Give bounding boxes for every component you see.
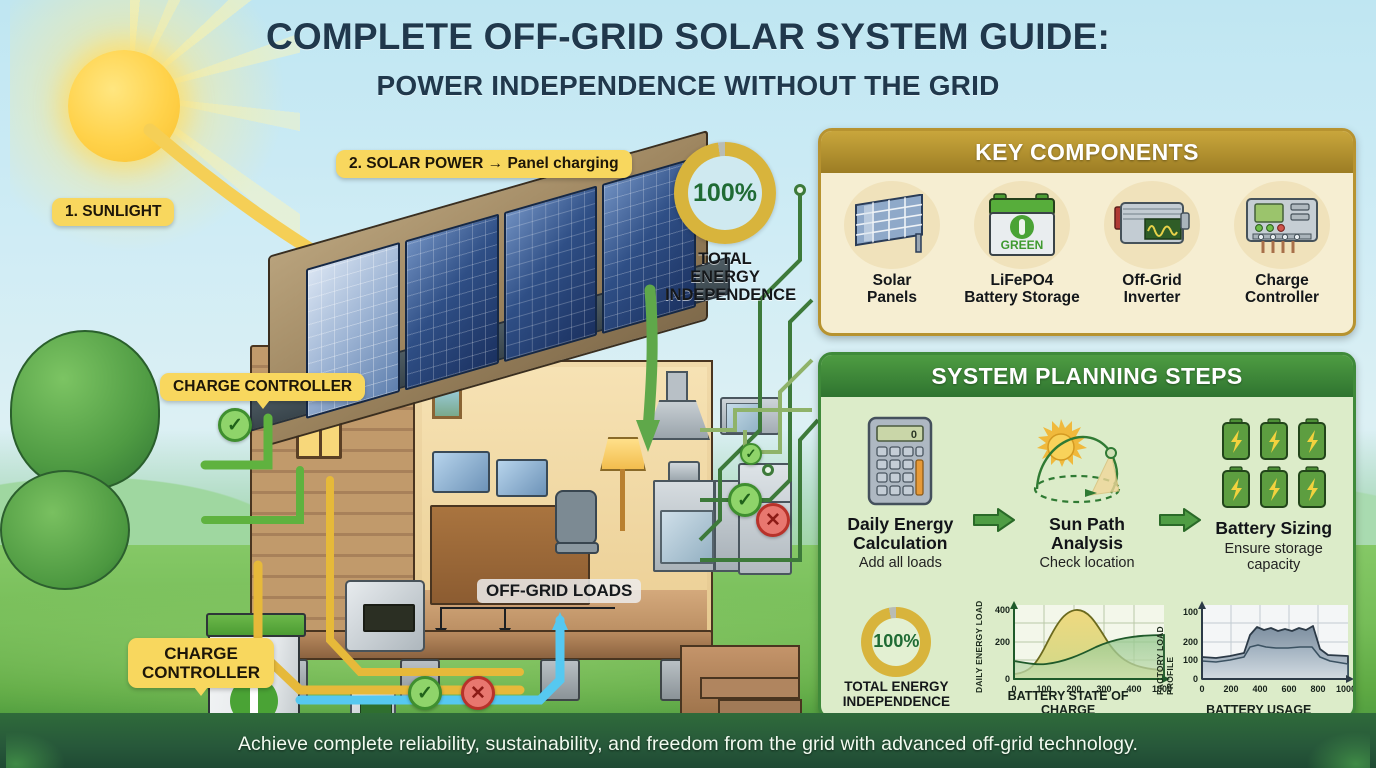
key-components-list: Solar Panels GREEN (821, 173, 1353, 333)
planning-step-title: Sun Path Analysis (1049, 515, 1125, 552)
key-component-label: LiFePO4 Battery Storage (964, 273, 1079, 306)
callout-charge-controller-lower: CHARGE CONTROLLER (128, 638, 274, 688)
svg-text:800: 800 (1311, 684, 1326, 694)
battery-icon: GREEN (974, 181, 1070, 269)
planning-arrow-2-icon (1158, 507, 1202, 538)
svg-text:0: 0 (1005, 674, 1010, 684)
callout-charge-controller-upper: CHARGE CONTROLLER (160, 373, 365, 401)
house-pier (540, 659, 580, 701)
stove-oven (653, 480, 715, 572)
off-grid-loads-label: OFF-GRID LOADS (477, 579, 641, 603)
office-chair (555, 490, 597, 585)
page-title: COMPLETE OFF-GRID SOLAR SYSTEM GUIDE: (0, 16, 1376, 58)
system-planning-steps-panel: SYSTEM PLANNING STEPS 0 (818, 352, 1356, 720)
planning-step-title: Daily Energy Calculation (847, 515, 953, 552)
kc-line2: Battery Storage (964, 290, 1079, 307)
circuit-node (794, 184, 806, 196)
callout-cc-line1: CHARGE (142, 644, 260, 663)
kc-line1: Off-Grid (1122, 273, 1181, 290)
factory-load-profile-chart: FACTORY LOAD PROFILE (1156, 599, 1345, 717)
daily-energy-load-chart: DAILY ENERGY LOAD (970, 599, 1151, 717)
house-floor-slab (250, 630, 713, 660)
solar-panel-module (504, 185, 598, 362)
chair-back (555, 490, 597, 545)
step-title-line2: Calculation (847, 534, 953, 553)
monitor-right (496, 459, 548, 497)
donut-label-line2: INDEPENDENCE (665, 287, 785, 305)
step-title-line1: Sun Path (1049, 515, 1125, 534)
key-components-title: KEY COMPONENTS (821, 131, 1353, 173)
planning-step-sub: Add all loads (859, 555, 942, 571)
key-component-label: Off-Grid Inverter (1122, 273, 1181, 306)
microwave (720, 397, 780, 435)
page-subtitle: POWER INDEPENDENCE WITHOUT THE GRID (0, 70, 1376, 102)
kc-line2: Panels (867, 290, 917, 307)
svg-text:100: 100 (1183, 607, 1198, 617)
step-title-line1: Daily Energy (847, 515, 953, 534)
monitor-left (432, 451, 490, 493)
total-energy-independence-indicator: 100% TOTAL ENERGY INDEPENDENCE (665, 142, 785, 312)
kc-line1: Solar (867, 273, 917, 290)
status-badge-trace-bad: ✕ (756, 503, 790, 537)
planning-energy-independence-indicator: 100% TOTAL ENERGY INDEPENDENCE (829, 607, 964, 709)
key-component-lifepo4-battery[interactable]: GREEN LiFePO4 Battery Storage (957, 181, 1087, 329)
svg-text:100: 100 (1183, 655, 1198, 665)
inverter-icon (1104, 181, 1200, 269)
svg-text:200: 200 (995, 637, 1010, 647)
wall-inverter-unit (345, 580, 425, 652)
chair-seat (555, 542, 599, 554)
step-title-line1: Battery Sizing (1215, 519, 1332, 538)
svg-text:200: 200 (1224, 684, 1239, 694)
svg-text:1000: 1000 (1336, 684, 1356, 694)
house-step-2 (700, 677, 800, 699)
calculator-icon: 0 (866, 409, 934, 513)
mini-donut-label-line1: TOTAL ENERGY (829, 680, 964, 695)
key-component-charge-controller[interactable]: Charge Controller (1217, 181, 1347, 329)
key-component-label: Solar Panels (867, 273, 917, 306)
mini-donut-label: TOTAL ENERGY INDEPENDENCE (829, 680, 964, 709)
svg-text:400: 400 (1253, 684, 1268, 694)
mini-donut-label-line2: INDEPENDENCE (829, 695, 964, 710)
kc-line1: LiFePO4 (964, 273, 1079, 290)
planning-bottom-row: 100% TOTAL ENERGY INDEPENDENCE DAILY ENE… (821, 597, 1353, 719)
svg-text:400: 400 (995, 605, 1010, 615)
planning-step-sub: Ensure storage capacity (1202, 541, 1345, 573)
planning-step-sub: Check location (1039, 555, 1134, 571)
planning-steps-list: 0 (821, 397, 1353, 597)
infographic-canvas: COMPLETE OFF-GRID SOLAR SYSTEM GUIDE: PO… (0, 0, 1376, 768)
charge-controller-icon (1234, 181, 1330, 269)
planning-step-sun-path-analysis[interactable]: Sun Path Analysis Check location (1016, 409, 1159, 571)
kc-line2: Controller (1245, 290, 1319, 307)
status-badge-house-ok: ✓ (408, 676, 442, 710)
svg-text:0: 0 (1193, 674, 1198, 684)
donut-label-line1: TOTAL ENERGY (665, 251, 785, 287)
battery-bank-icon (1218, 409, 1330, 513)
loads-arrow-left (440, 607, 442, 629)
key-component-solar-panels[interactable]: Solar Panels (827, 181, 957, 329)
circuit-node (762, 464, 774, 476)
callout-sunlight: 1. SUNLIGHT (52, 198, 174, 226)
svg-text:0: 0 (911, 429, 917, 441)
key-component-off-grid-inverter[interactable]: Off-Grid Inverter (1087, 181, 1217, 329)
svg-text:0: 0 (1200, 684, 1205, 694)
planning-step-title: Battery Sizing (1215, 519, 1332, 538)
battery-cabinet-top (206, 613, 306, 637)
loads-arrow-mid (504, 607, 506, 629)
off-grid-house-illustration: OFF-GRID LOADS GREEN (100, 175, 740, 645)
status-badge-trace-ok-small: ✓ (740, 443, 762, 465)
planning-step-battery-sizing[interactable]: Battery Sizing Ensure storage capacity (1202, 409, 1345, 573)
kc-line2: Inverter (1122, 290, 1181, 307)
svg-text:200: 200 (1183, 637, 1198, 647)
donut-gauge: 100% (674, 142, 776, 244)
mini-donut-gauge: 100% (861, 607, 931, 677)
step-title-line2: Analysis (1049, 534, 1125, 553)
sun-path-icon (1027, 409, 1147, 513)
planning-step-daily-energy-calculation[interactable]: 0 (829, 409, 972, 571)
status-badge-house-bad: ✕ (461, 676, 495, 710)
status-badge-charge-controller: ✓ (218, 408, 252, 442)
callout-cc-line2: CONTROLLER (142, 663, 260, 682)
planning-arrow-1-icon (972, 507, 1016, 538)
key-components-panel: KEY COMPONENTS (818, 128, 1356, 336)
solar-panel-icon (844, 181, 940, 269)
range-hood-duct (666, 371, 688, 403)
callout-solar-power: 2. SOLAR POWER → Panel charging (336, 150, 632, 178)
solar-panel-module (405, 214, 499, 391)
loads-connector-line (440, 607, 615, 609)
mini-donut-value: 100% (873, 631, 919, 652)
svg-text:600: 600 (1282, 684, 1297, 694)
kc-line1: Charge (1245, 273, 1319, 290)
key-component-label: Charge Controller (1245, 273, 1319, 306)
footer-caption: Achieve complete reliability, sustainabi… (0, 733, 1376, 756)
svg-text:GREEN: GREEN (1001, 238, 1044, 252)
donut-value: 100% (693, 179, 757, 208)
floor-lamp-pole (620, 469, 625, 531)
system-planning-title: SYSTEM PLANNING STEPS (821, 355, 1353, 397)
donut-label: TOTAL ENERGY INDEPENDENCE (665, 251, 785, 304)
